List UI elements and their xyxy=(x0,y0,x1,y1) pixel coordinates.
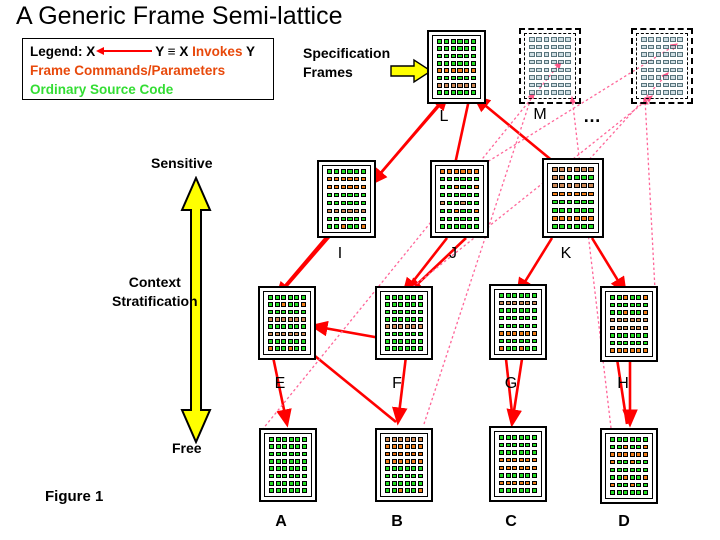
code-cell xyxy=(398,302,403,307)
code-cell xyxy=(567,192,573,197)
code-cell xyxy=(447,201,452,206)
frame-code-row xyxy=(552,167,594,172)
code-cell xyxy=(289,459,294,464)
code-cell xyxy=(532,450,537,455)
code-cell xyxy=(474,185,479,190)
code-cell xyxy=(268,302,273,307)
code-cell xyxy=(418,317,423,322)
code-cell xyxy=(610,326,615,331)
frame-code-row xyxy=(437,46,476,51)
code-cell xyxy=(558,90,564,95)
code-cell xyxy=(512,346,517,351)
code-cell xyxy=(460,169,465,174)
code-cell xyxy=(454,177,459,182)
frame-f[interactable] xyxy=(375,286,433,360)
code-cell xyxy=(559,183,565,188)
code-cell xyxy=(663,68,669,73)
code-cell xyxy=(506,324,511,329)
code-cell xyxy=(499,488,504,493)
frame-code-row xyxy=(499,466,537,471)
code-cell xyxy=(398,474,403,479)
code-cell xyxy=(519,466,524,471)
frame-code-row xyxy=(327,193,366,198)
code-cell xyxy=(464,90,469,95)
code-cell xyxy=(334,209,339,214)
code-cell xyxy=(536,75,542,80)
code-cell xyxy=(610,445,615,450)
frame-code-row xyxy=(385,452,423,457)
code-cell xyxy=(460,201,465,206)
code-cell xyxy=(354,217,359,222)
code-cell xyxy=(532,488,537,493)
code-cell xyxy=(610,483,615,488)
frame-body xyxy=(494,431,542,497)
frame-g[interactable] xyxy=(489,284,547,360)
code-cell xyxy=(623,333,628,338)
code-cell xyxy=(656,37,662,42)
code-cell xyxy=(648,37,654,42)
code-cell xyxy=(551,45,557,50)
frame-code-row xyxy=(269,466,307,471)
code-cell xyxy=(451,61,456,66)
code-cell xyxy=(437,54,442,59)
code-cell xyxy=(636,483,641,488)
code-cell xyxy=(499,481,504,486)
code-cell xyxy=(536,90,542,95)
code-cell xyxy=(610,452,615,457)
code-cell xyxy=(294,310,299,315)
frame-code-row xyxy=(610,437,648,442)
frame-label-b: B xyxy=(383,513,411,531)
frame-border-outer xyxy=(375,286,433,360)
legend-line-frame-commands: Frame Commands/Parameters xyxy=(30,61,267,80)
frame-border-outer xyxy=(317,160,376,238)
code-cell xyxy=(411,317,416,322)
frame-m[interactable] xyxy=(519,28,581,104)
frame-code-row xyxy=(499,473,537,478)
code-cell xyxy=(506,293,511,298)
frame-code-row xyxy=(610,318,648,323)
frame-code-row xyxy=(499,481,537,486)
code-cell xyxy=(677,90,683,95)
code-cell xyxy=(519,473,524,478)
code-cell xyxy=(636,445,641,450)
code-cell xyxy=(565,68,571,73)
code-cell xyxy=(361,177,366,182)
frame-code-row xyxy=(440,177,479,182)
code-cell xyxy=(301,339,306,344)
code-cell xyxy=(392,310,397,315)
code-cell xyxy=(418,302,423,307)
code-cell xyxy=(327,177,332,182)
invoke-arrow-k-to-h xyxy=(592,238,625,292)
code-cell xyxy=(301,295,306,300)
code-cell xyxy=(411,444,416,449)
code-cell xyxy=(457,46,462,51)
code-cell xyxy=(405,295,410,300)
frame-code-row xyxy=(610,310,648,315)
code-cell xyxy=(663,60,669,65)
frame-code-row xyxy=(499,301,537,306)
code-cell xyxy=(623,348,628,353)
frame-code-row xyxy=(327,185,366,190)
code-cell xyxy=(519,293,524,298)
code-cell xyxy=(552,183,558,188)
code-cell xyxy=(588,224,594,229)
frame-code-row xyxy=(268,317,306,322)
code-cell xyxy=(405,332,410,337)
axis-label-context-stratification: Context Stratification xyxy=(112,273,198,311)
code-cell xyxy=(289,444,294,449)
code-cell xyxy=(269,488,274,493)
code-cell xyxy=(392,452,397,457)
code-cell xyxy=(444,39,449,44)
code-cell xyxy=(447,185,452,190)
frame-c[interactable] xyxy=(489,426,547,502)
code-cell xyxy=(281,332,286,337)
code-cell xyxy=(551,60,557,65)
code-cell xyxy=(643,490,648,495)
code-cell xyxy=(617,326,622,331)
frame-body xyxy=(380,291,428,355)
code-cell xyxy=(281,295,286,300)
frame-body xyxy=(524,33,576,99)
code-cell xyxy=(294,346,299,351)
code-cell xyxy=(559,175,565,180)
code-cell xyxy=(558,52,564,57)
code-cell xyxy=(275,346,280,351)
code-cell xyxy=(551,75,557,80)
code-cell xyxy=(525,346,530,351)
code-cell xyxy=(636,341,641,346)
code-cell xyxy=(281,324,286,329)
frame-code-row xyxy=(385,295,423,300)
code-cell xyxy=(451,39,456,44)
code-cell xyxy=(663,75,669,80)
code-cell xyxy=(623,490,628,495)
code-cell xyxy=(347,201,352,206)
code-cell xyxy=(385,481,390,486)
code-cell xyxy=(294,339,299,344)
code-cell xyxy=(474,177,479,182)
code-cell xyxy=(544,83,550,88)
frame-code-row xyxy=(499,316,537,321)
code-cell xyxy=(617,483,622,488)
code-cell xyxy=(630,490,635,495)
code-cell xyxy=(385,302,390,307)
code-cell xyxy=(529,45,535,50)
code-cell xyxy=(474,169,479,174)
code-cell xyxy=(506,443,511,448)
code-cell xyxy=(636,437,641,442)
code-cell xyxy=(276,466,281,471)
code-cell xyxy=(398,481,403,486)
code-cell xyxy=(361,224,366,229)
code-cell xyxy=(471,83,476,88)
code-cell xyxy=(623,468,628,473)
code-cell xyxy=(623,475,628,480)
code-cell xyxy=(294,295,299,300)
code-cell xyxy=(525,481,530,486)
code-cell xyxy=(519,458,524,463)
code-cell xyxy=(301,346,306,351)
code-cell xyxy=(656,83,662,88)
code-cell xyxy=(519,443,524,448)
figure-caption: Figure 1 xyxy=(45,488,103,505)
code-cell xyxy=(444,68,449,73)
code-cell xyxy=(506,458,511,463)
code-cell xyxy=(656,90,662,95)
code-cell xyxy=(289,474,294,479)
code-cell xyxy=(623,452,628,457)
frame-code-row xyxy=(641,52,683,57)
code-cell xyxy=(641,52,647,57)
code-cell xyxy=(474,217,479,222)
frame-i[interactable] xyxy=(317,160,376,238)
frame-code-row xyxy=(437,54,476,59)
code-cell xyxy=(623,483,628,488)
frame-code-row xyxy=(327,177,366,182)
frame-l[interactable] xyxy=(427,30,486,104)
code-cell xyxy=(327,169,332,174)
code-cell xyxy=(457,90,462,95)
frame-code-row xyxy=(499,293,537,298)
code-cell xyxy=(392,295,397,300)
code-cell xyxy=(347,217,352,222)
code-cell xyxy=(499,458,504,463)
code-cell xyxy=(499,331,504,336)
code-cell xyxy=(529,68,535,73)
code-cell xyxy=(648,60,654,65)
code-cell xyxy=(460,209,465,214)
frame-code-row xyxy=(385,324,423,329)
code-cell xyxy=(536,68,542,73)
code-cell xyxy=(519,324,524,329)
code-cell xyxy=(281,317,286,322)
code-cell xyxy=(268,324,273,329)
code-cell xyxy=(385,310,390,315)
code-cell xyxy=(643,452,648,457)
frame-code-row xyxy=(440,185,479,190)
code-cell xyxy=(269,459,274,464)
code-cell xyxy=(499,301,504,306)
code-cell xyxy=(282,481,287,486)
code-cell xyxy=(648,45,654,50)
diagram-canvas: A Generic Frame Semi-lattice Legend: XY … xyxy=(0,0,720,540)
code-cell xyxy=(617,310,622,315)
code-cell xyxy=(354,169,359,174)
code-cell xyxy=(588,192,594,197)
code-cell xyxy=(643,310,648,315)
spec-frames-line1: Specification xyxy=(303,44,390,63)
code-cell xyxy=(411,302,416,307)
code-cell xyxy=(525,466,530,471)
code-cell xyxy=(460,177,465,182)
frame-b[interactable] xyxy=(375,428,433,502)
code-cell xyxy=(440,193,445,198)
code-cell xyxy=(288,302,293,307)
code-cell xyxy=(506,481,511,486)
code-cell xyxy=(361,193,366,198)
code-cell xyxy=(302,481,307,486)
code-cell xyxy=(405,302,410,307)
code-cell xyxy=(392,346,397,351)
code-cell xyxy=(499,346,504,351)
frame-n[interactable] xyxy=(631,28,693,104)
code-cell xyxy=(525,324,530,329)
code-cell xyxy=(544,60,550,65)
code-cell xyxy=(559,208,565,213)
frame-code-row xyxy=(385,466,423,471)
code-cell xyxy=(648,68,654,73)
code-cell xyxy=(532,458,537,463)
code-cell xyxy=(454,209,459,214)
code-cell xyxy=(457,76,462,81)
code-cell xyxy=(282,452,287,457)
code-cell xyxy=(610,468,615,473)
frame-label-j: J xyxy=(439,245,467,263)
code-cell xyxy=(334,217,339,222)
code-cell xyxy=(457,61,462,66)
frame-body xyxy=(263,291,311,355)
frame-code-row xyxy=(610,295,648,300)
code-cell xyxy=(610,318,615,323)
code-cell xyxy=(677,52,683,57)
code-cell xyxy=(536,60,542,65)
code-cell xyxy=(552,216,558,221)
code-cell xyxy=(617,460,622,465)
code-cell xyxy=(574,216,580,221)
frame-body xyxy=(605,291,653,357)
code-cell xyxy=(617,445,622,450)
frame-code-row xyxy=(529,90,571,95)
code-cell xyxy=(295,459,300,464)
code-cell xyxy=(574,167,580,172)
code-cell xyxy=(532,481,537,486)
code-cell xyxy=(288,295,293,300)
code-cell xyxy=(288,339,293,344)
code-cell xyxy=(437,83,442,88)
frame-h[interactable] xyxy=(600,286,658,362)
code-cell xyxy=(519,488,524,493)
code-cell xyxy=(636,318,641,323)
code-cell xyxy=(574,175,580,180)
code-cell xyxy=(440,185,445,190)
code-cell xyxy=(398,437,403,442)
axis-label-line1: Context xyxy=(112,273,198,292)
page-title: A Generic Frame Semi-lattice xyxy=(16,2,343,31)
code-cell xyxy=(630,318,635,323)
frame-code-row xyxy=(327,201,366,206)
code-cell xyxy=(327,217,332,222)
code-cell xyxy=(411,437,416,442)
frame-body xyxy=(264,433,312,497)
code-cell xyxy=(437,76,442,81)
code-cell xyxy=(288,346,293,351)
frame-label-c: C xyxy=(497,513,525,531)
code-cell xyxy=(558,83,564,88)
code-cell xyxy=(405,317,410,322)
code-cell xyxy=(464,68,469,73)
code-cell xyxy=(447,209,452,214)
frame-code-row xyxy=(268,339,306,344)
code-cell xyxy=(334,185,339,190)
frame-border-outer xyxy=(489,284,547,360)
code-cell xyxy=(341,209,346,214)
code-cell xyxy=(460,217,465,222)
code-cell xyxy=(506,301,511,306)
frame-body xyxy=(435,165,484,233)
code-cell xyxy=(347,185,352,190)
frame-border-outer xyxy=(600,428,658,504)
code-cell xyxy=(440,177,445,182)
code-cell xyxy=(506,339,511,344)
code-cell xyxy=(302,474,307,479)
frame-d[interactable] xyxy=(600,428,658,504)
code-cell xyxy=(677,68,683,73)
frame-body xyxy=(636,33,688,99)
code-cell xyxy=(512,466,517,471)
code-cell xyxy=(288,324,293,329)
frame-code-row xyxy=(610,468,648,473)
code-cell xyxy=(327,201,332,206)
code-cell xyxy=(440,201,445,206)
code-cell xyxy=(623,318,628,323)
code-cell xyxy=(444,54,449,59)
frame-code-row xyxy=(440,201,479,206)
frame-code-row xyxy=(499,450,537,455)
code-cell xyxy=(630,295,635,300)
frame-label-m: M xyxy=(526,106,554,124)
code-cell xyxy=(623,303,628,308)
code-cell xyxy=(551,52,557,57)
frame-code-row xyxy=(552,208,594,213)
frame-e[interactable] xyxy=(258,286,316,360)
code-cell xyxy=(499,473,504,478)
code-cell xyxy=(437,39,442,44)
code-cell xyxy=(467,185,472,190)
frame-label-f: F xyxy=(383,375,411,393)
code-cell xyxy=(617,475,622,480)
code-cell xyxy=(506,346,511,351)
frame-code-row xyxy=(529,83,571,88)
code-cell xyxy=(529,37,535,42)
code-cell xyxy=(418,481,423,486)
code-cell xyxy=(301,310,306,315)
code-cell xyxy=(454,217,459,222)
frame-code-row xyxy=(440,193,479,198)
code-cell xyxy=(347,224,352,229)
code-cell xyxy=(623,341,628,346)
code-cell xyxy=(506,308,511,313)
frame-a[interactable] xyxy=(259,428,317,502)
frame-k[interactable] xyxy=(542,158,604,238)
frame-code-row xyxy=(552,224,594,229)
code-cell xyxy=(643,318,648,323)
code-cell xyxy=(467,209,472,214)
code-cell xyxy=(617,452,622,457)
code-cell xyxy=(440,217,445,222)
code-cell xyxy=(558,68,564,73)
code-cell xyxy=(636,310,641,315)
code-cell xyxy=(532,346,537,351)
code-cell xyxy=(354,201,359,206)
code-cell xyxy=(512,488,517,493)
code-cell xyxy=(529,90,535,95)
code-cell xyxy=(347,193,352,198)
code-cell xyxy=(544,37,550,42)
frame-j[interactable] xyxy=(430,160,489,238)
